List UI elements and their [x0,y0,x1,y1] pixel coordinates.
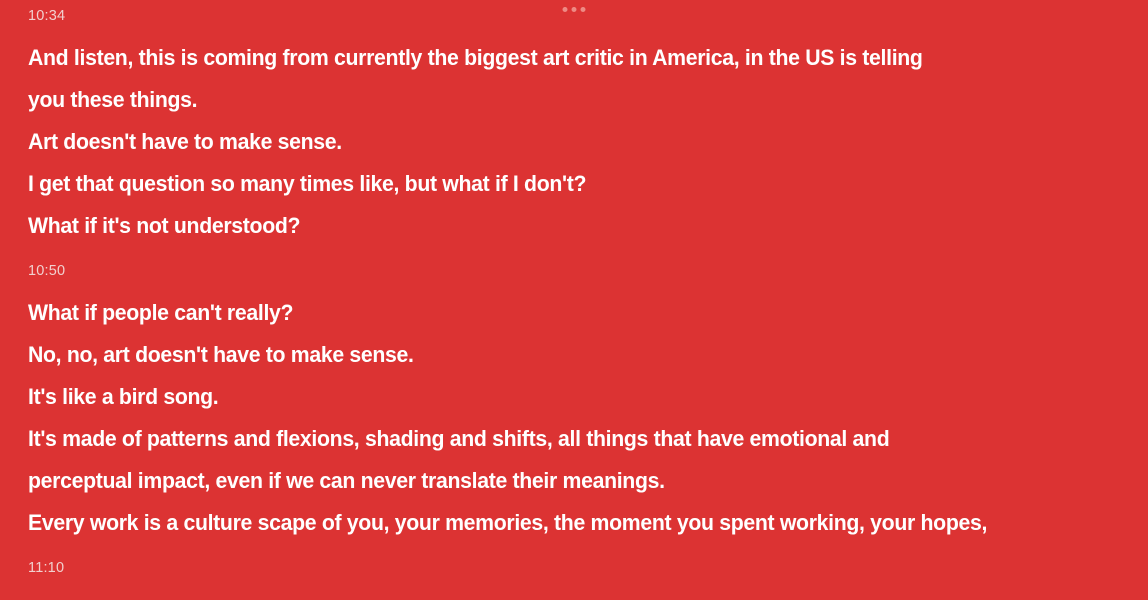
transcript-block: 10:50 What if people can't really? No, n… [28,261,1124,544]
caption-line: It's made of patterns and flexions, shad… [28,418,1064,460]
caption-line: perceptual impact, even if we can never … [28,460,1064,502]
caption-line: you these things. [28,79,1064,121]
caption-line: What if it's not understood? [28,205,1064,247]
caption-line: I get that question so many times like, … [28,163,1064,205]
timestamp[interactable]: 10:34 [28,6,1124,26]
transcript-viewer: 10:34 And listen, this is coming from cu… [0,0,1148,600]
transcript-block: 10:34 And listen, this is coming from cu… [28,6,1124,247]
caption-line: Every work is a culture scape of you, yo… [28,502,1064,544]
transcript-block: 11:10 [28,558,1124,578]
caption-line: What if people can't really? [28,292,1064,334]
caption-line: Art doesn't have to make sense. [28,121,1064,163]
caption-line: It's like a bird song. [28,376,1064,418]
timestamp[interactable]: 10:50 [28,261,1124,281]
transcript-scroll-area[interactable]: 10:34 And listen, this is coming from cu… [0,0,1148,600]
caption-line: No, no, art doesn't have to make sense. [28,334,1064,376]
caption-line: And listen, this is coming from currentl… [28,37,1064,79]
timestamp[interactable]: 11:10 [28,558,1124,578]
